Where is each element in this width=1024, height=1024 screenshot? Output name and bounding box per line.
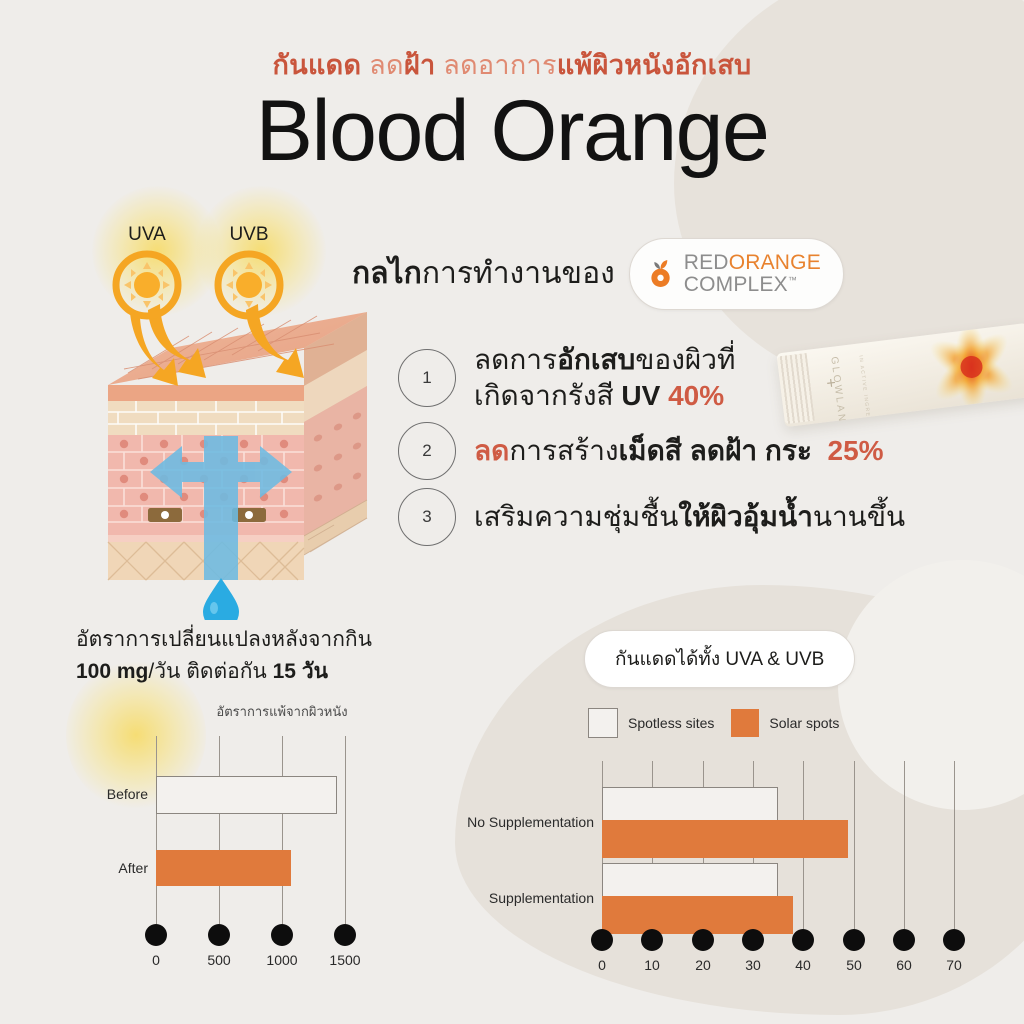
b2-l1c: เม็ดสี ลดฝ้า กระ [619, 435, 812, 466]
b1-l1a: ลดการ [474, 344, 557, 375]
b3-l1b: ให้ผิวอุ้มน้ำ [678, 501, 812, 532]
orange-fruit-icon [648, 259, 675, 288]
flower-burst-graphic [914, 323, 1024, 424]
logo-complex-text: COMPLEX [684, 273, 788, 296]
cat-label-supp: Supplementation [436, 890, 594, 906]
gridline-r-50 [854, 761, 855, 929]
b3-l1c: นานขึ้น [813, 501, 905, 532]
legend-swatch-spotless [588, 708, 618, 738]
axis-label-1500: 1500 [315, 952, 375, 968]
kicker-part-4: ลดอาการ [443, 50, 557, 80]
logo-wordmark: REDORANGE COMPLEX™ [684, 252, 821, 296]
left-chart-sub-mid: /วัน ติดต่อกัน [148, 660, 272, 683]
left-chart-plot: Before After 0 500 1000 1500 [76, 728, 466, 978]
left-chart-title: อัตราการเปลี่ยนแปลงหลังจากกิน [76, 626, 466, 654]
legend-label-solar: Solar spots [769, 715, 839, 731]
cat-label-before: Before [66, 786, 148, 802]
b1-l1c: ของผิวที่ [635, 344, 735, 375]
bar-after [156, 850, 291, 886]
axis-label-0: 0 [126, 952, 186, 968]
gridline-500 [219, 736, 220, 924]
benefit-row-2: 2 ลดการสร้างเม็ดสี ลดฝ้า กระ 25% [398, 422, 905, 480]
b1-l1b: อักเสบ [557, 344, 635, 375]
axis-dot-r-50 [843, 929, 865, 951]
uva-label: UVA [128, 224, 166, 245]
header-kicker: กันแดด ลดฝ้า ลดอาการแพ้ผิวหนังอักเสบ [0, 52, 1024, 79]
gridline-1000 [282, 736, 283, 924]
left-chart-subtitle: 100 mg/วัน ติดต่อกัน 15 วัน [76, 655, 466, 688]
kicker-part-2: ลด [369, 50, 404, 80]
logo-line-1: REDORANGE [684, 252, 821, 274]
bar-supp-solar [602, 896, 793, 934]
cat-label-after: After [66, 860, 148, 876]
bar-nosupp-spotless [602, 787, 778, 822]
mechanism-label-rest: การทำงานของ [422, 257, 615, 290]
left-chart-dose: 100 mg [76, 660, 148, 683]
benefit-text-1: ลดการอักเสบของผิวที่ เกิดจากรังสี UV 40% [474, 342, 735, 414]
bar-supp-spotless [602, 863, 778, 898]
legend-swatch-solar [731, 709, 759, 737]
axis-dot-0 [145, 924, 167, 946]
kicker-part-5: แพ้ผิวหนังอักเสบ [557, 50, 752, 80]
gridline-r-60 [904, 761, 905, 929]
cat-label-nosupp: No Supplementation [436, 814, 594, 830]
infographic-canvas: กันแดด ลดฝ้า ลดอาการแพ้ผิวหนังอักเสบ Blo… [0, 0, 1024, 1024]
uva-sun-icon [116, 254, 178, 316]
b1-percent: 40% [668, 380, 724, 411]
left-chart: อัตราการเปลี่ยนแปลงหลังจากกิน 100 mg/วัน… [76, 626, 466, 978]
axis-dot-r-20 [692, 929, 714, 951]
skin-layer-diagram: UVA UVB [86, 200, 386, 620]
gridline-r-70 [954, 761, 955, 929]
benefit-number-2: 2 [398, 422, 456, 480]
uva-uvb-badge: กันแดดได้ทั้ง UVA & UVB [584, 630, 855, 688]
benefit-row-1: 1 ลดการอักเสบของผิวที่ เกิดจากรังสี UV 4… [398, 342, 905, 414]
b1-l2b: UV [621, 380, 660, 411]
uvb-label: UVB [229, 224, 268, 245]
b2-l1b: การสร้าง [509, 435, 618, 466]
b1-l2a: เกิดจากรังสี [474, 380, 621, 411]
logo-line-2: COMPLEX™ [684, 274, 821, 296]
gridline-1500 [345, 736, 346, 924]
benefit-text-2: ลดการสร้างเม็ดสี ลดฝ้า กระ 25% [474, 433, 884, 469]
benefit-number-1: 1 [398, 349, 456, 407]
benefit-row-3: 3 เสริมความชุ่มชื้นให้ผิวอุ้มน้ำนานขึ้น [398, 488, 905, 546]
gridline-0 [156, 736, 157, 924]
axis-dot-r-70 [943, 929, 965, 951]
axis-label-500: 500 [189, 952, 249, 968]
b2-percent: 25% [828, 435, 884, 466]
axis-dot-1000 [271, 924, 293, 946]
benefits-list: 1 ลดการอักเสบของผิวที่ เกิดจากรังสี UV 4… [398, 342, 905, 552]
logo-orange-text: ORANGE [729, 251, 821, 274]
mechanism-row: กลไกการทำงานของ REDORANGE COMPLEX™ [352, 238, 844, 310]
bar-before [156, 776, 337, 814]
water-droplet-icon [203, 578, 239, 620]
b3-l1a: เสริมความชุ่มชื้น [474, 501, 678, 532]
redorange-complex-logo: REDORANGE COMPLEX™ [629, 238, 844, 310]
axis-dot-r-10 [641, 929, 663, 951]
axis-dot-r-0 [591, 929, 613, 951]
axis-dot-r-40 [792, 929, 814, 951]
skin-side-face [304, 312, 367, 555]
page-title: Blood Orange [0, 87, 1024, 176]
bar-nosupp-solar [602, 820, 848, 858]
benefit-text-3: เสริมความชุ่มชื้นให้ผิวอุ้มน้ำนานขึ้น [474, 499, 905, 535]
logo-trademark: ™ [788, 275, 797, 285]
left-chart-plot-name: อัตราการแพ้จากผิวหนัง [98, 701, 466, 722]
right-chart: กันแดดได้ทั้ง UVA & UVB Spotless sites S… [470, 626, 1015, 986]
axis-dot-r-60 [893, 929, 915, 951]
benefit-number-3: 3 [398, 488, 456, 546]
axis-label-r-70: 70 [924, 957, 984, 973]
axis-dot-1500 [334, 924, 356, 946]
legend-item-solar: Solar spots [731, 709, 839, 737]
mechanism-label: กลไกการทำงานของ [352, 250, 615, 297]
axis-dot-r-30 [742, 929, 764, 951]
legend-label-spotless: Spotless sites [628, 715, 714, 731]
uvb-sun-icon [218, 254, 280, 316]
axis-dot-500 [208, 924, 230, 946]
kicker-part-1: กันแดด [273, 50, 362, 80]
mechanism-label-bold: กลไก [352, 257, 422, 290]
right-chart-plot: No Supplementation Supplementation 0 10 … [470, 761, 1015, 986]
b2-l1a: ลด [474, 435, 509, 466]
right-chart-legend: Spotless sites Solar spots [588, 708, 839, 738]
left-chart-days: 15 วัน [273, 660, 328, 683]
kicker-part-3: ฝ้า [404, 50, 436, 80]
page-header: กันแดด ลดฝ้า ลดอาการแพ้ผิวหนังอักเสบ Blo… [0, 52, 1024, 176]
legend-item-spotless: Spotless sites [588, 708, 714, 738]
logo-red-text: RED [684, 251, 729, 274]
axis-label-1000: 1000 [252, 952, 312, 968]
